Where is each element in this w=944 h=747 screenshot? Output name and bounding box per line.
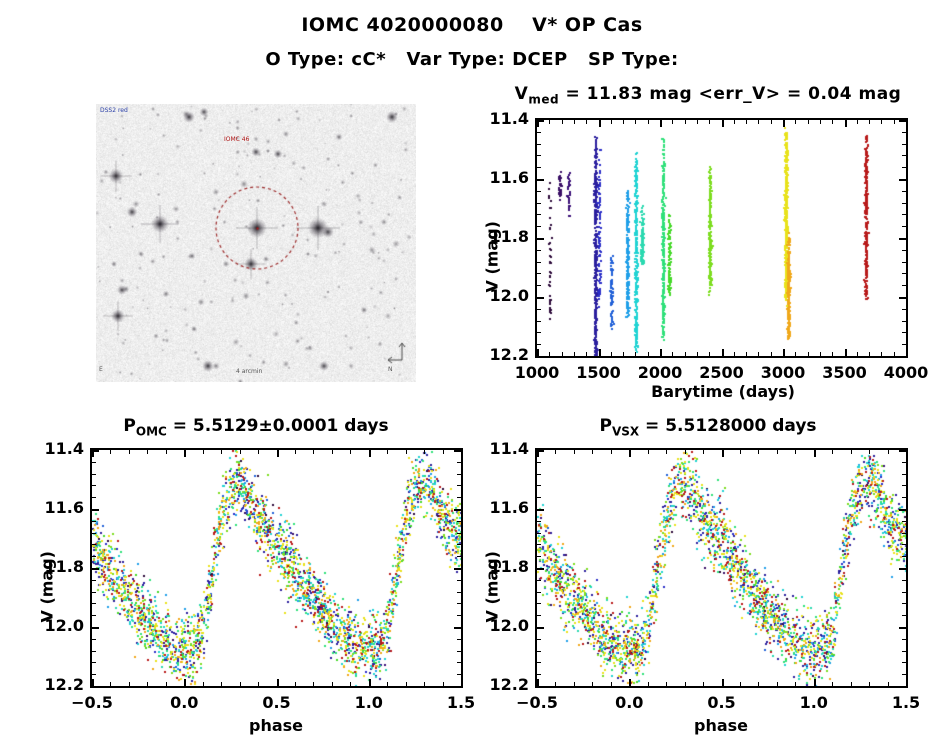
axis-minor-tick — [611, 120, 612, 124]
axis-tick — [537, 568, 544, 570]
axis-minor-tick — [758, 352, 759, 356]
x-tick-label: 0.5 — [232, 693, 322, 712]
y-tick-label: 11.6 — [473, 498, 529, 517]
axis-minor-tick — [902, 250, 906, 251]
axis-minor-tick — [902, 674, 906, 675]
phase-vsx-plot-area[interactable] — [535, 448, 908, 688]
axis-tick — [369, 450, 371, 457]
survey-label: DSS2 red — [100, 107, 128, 114]
axis-minor-tick — [685, 352, 686, 356]
axis-minor-tick — [771, 352, 772, 356]
axis-tick — [92, 450, 99, 452]
axis-tick — [899, 627, 906, 629]
axis-minor-tick — [258, 450, 259, 454]
axis-minor-tick — [537, 285, 541, 286]
axis-tick — [537, 349, 539, 356]
axis-minor-tick — [902, 273, 906, 274]
x-tick-label: 0.0 — [139, 693, 229, 712]
x-tick-label: 0.5 — [677, 693, 767, 712]
axis-minor-tick — [443, 450, 444, 454]
x-tick-label: 1.5 — [861, 693, 944, 712]
axis-minor-tick — [902, 556, 906, 557]
phase-omc-title: POMC = 5.5129±0.0001 days — [56, 416, 456, 438]
axis-minor-tick — [537, 167, 541, 168]
axis-minor-tick — [537, 580, 541, 581]
axis-minor-tick — [457, 651, 461, 652]
axis-tick — [454, 686, 461, 688]
axis-minor-tick — [350, 682, 351, 686]
object-marker-label: IOMC 46 — [224, 136, 249, 143]
axis-minor-tick — [457, 662, 461, 663]
axis-minor-tick — [537, 662, 541, 663]
axis-minor-tick — [555, 682, 556, 686]
axis-tick — [899, 238, 906, 240]
phase-vsx-title-value: = 5.5128000 days — [639, 416, 816, 436]
axis-minor-tick — [795, 120, 796, 124]
axis-minor-tick — [709, 352, 710, 356]
phase-omc-x-axis-label: phase — [186, 716, 366, 735]
axis-minor-tick — [537, 309, 541, 310]
axis-minor-tick — [537, 544, 541, 545]
axis-minor-tick — [92, 603, 96, 604]
axis-minor-tick — [443, 682, 444, 686]
axis-minor-tick — [537, 262, 541, 263]
axis-tick — [899, 509, 906, 511]
y-tick-label: 12.2 — [473, 675, 529, 694]
axis-minor-tick — [795, 352, 796, 356]
axis-minor-tick — [406, 682, 407, 686]
axis-tick — [783, 120, 785, 127]
axis-minor-tick — [623, 120, 624, 124]
axis-minor-tick — [129, 682, 130, 686]
axis-minor-tick — [537, 521, 541, 522]
axis-minor-tick — [902, 132, 906, 133]
axis-tick — [461, 679, 463, 686]
axis-minor-tick — [574, 450, 575, 454]
axis-minor-tick — [92, 544, 96, 545]
axis-tick — [277, 679, 279, 686]
axis-minor-tick — [777, 450, 778, 454]
east-label: E — [99, 366, 103, 373]
axis-minor-tick — [92, 639, 96, 640]
axis-minor-tick — [537, 556, 541, 557]
axis-tick — [906, 450, 908, 457]
axis-minor-tick — [110, 450, 111, 454]
axis-minor-tick — [537, 592, 541, 593]
axis-minor-tick — [555, 450, 556, 454]
axis-tick — [845, 349, 847, 356]
axis-minor-tick — [457, 521, 461, 522]
axis-minor-tick — [574, 682, 575, 686]
axis-minor-tick — [537, 603, 541, 604]
axis-tick — [369, 679, 371, 686]
axis-minor-tick — [586, 120, 587, 124]
axis-minor-tick — [387, 682, 388, 686]
axis-minor-tick — [537, 273, 541, 274]
axis-minor-tick — [697, 352, 698, 356]
axis-minor-tick — [888, 450, 889, 454]
axis-minor-tick — [457, 615, 461, 616]
y-tick-label: 11.8 — [28, 557, 84, 576]
y-tick-label: 11.8 — [473, 227, 529, 246]
axis-tick — [184, 679, 186, 686]
phase-omc-title-subscript: OMC — [136, 424, 167, 438]
axis-minor-tick — [902, 485, 906, 486]
axis-minor-tick — [221, 682, 222, 686]
axis-minor-tick — [902, 533, 906, 534]
axis-tick — [660, 349, 662, 356]
axis-minor-tick — [869, 450, 870, 454]
axis-minor-tick — [537, 214, 541, 215]
phase-vsx-title-subscript: VSX — [612, 424, 639, 438]
axis-minor-tick — [795, 682, 796, 686]
axis-minor-tick — [549, 352, 550, 356]
axis-tick — [537, 238, 544, 240]
axis-minor-tick — [92, 462, 96, 463]
axis-minor-tick — [574, 352, 575, 356]
axis-minor-tick — [902, 309, 906, 310]
axis-tick — [899, 179, 906, 181]
finding-chart[interactable]: DSS2 red IOMC 46 E N 4 arcmin — [96, 104, 416, 382]
axis-minor-tick — [666, 450, 667, 454]
axis-minor-tick — [740, 450, 741, 454]
axis-minor-tick — [902, 203, 906, 204]
axis-minor-tick — [685, 450, 686, 454]
axis-minor-tick — [894, 120, 895, 124]
x-tick-label: 0.0 — [584, 693, 674, 712]
axis-minor-tick — [611, 352, 612, 356]
axis-minor-tick — [387, 450, 388, 454]
axis-tick — [783, 349, 785, 356]
page-title: IOMC 4020000080 V* OP Cas — [0, 14, 944, 36]
axis-minor-tick — [332, 450, 333, 454]
axis-tick — [92, 679, 94, 686]
axis-tick — [454, 450, 461, 452]
axis-minor-tick — [537, 191, 541, 192]
axis-tick — [899, 297, 906, 299]
axis-tick — [814, 679, 816, 686]
axis-tick — [722, 349, 724, 356]
axis-minor-tick — [685, 682, 686, 686]
axis-minor-tick — [795, 450, 796, 454]
axis-minor-tick — [709, 120, 710, 124]
axis-tick — [599, 120, 601, 127]
axis-minor-tick — [832, 352, 833, 356]
vmed-prefix: V — [515, 84, 529, 104]
axis-minor-tick — [537, 344, 541, 345]
axis-tick — [454, 509, 461, 511]
vmed-subscript: med — [528, 92, 559, 106]
axis-minor-tick — [332, 682, 333, 686]
axis-minor-tick — [902, 155, 906, 156]
axis-tick — [722, 120, 724, 127]
axis-minor-tick — [313, 682, 314, 686]
axis-minor-tick — [92, 556, 96, 557]
x-tick-label: 1.0 — [769, 693, 859, 712]
axis-minor-tick — [457, 556, 461, 557]
axis-minor-tick — [902, 226, 906, 227]
axis-minor-tick — [888, 682, 889, 686]
lightcurve-x-axis-label: Barytime (days) — [608, 382, 838, 401]
y-tick-label: 11.6 — [473, 168, 529, 187]
object-type-line: O Type: cC* Var Type: DCEP SP Type: — [0, 49, 944, 70]
phase-vsx-title-prefix: P — [599, 416, 611, 436]
phase-vsx-title: PVSX = 5.5128000 days — [508, 416, 908, 438]
y-tick-label: 11.6 — [28, 498, 84, 517]
axis-minor-tick — [902, 262, 906, 263]
axis-minor-tick — [110, 682, 111, 686]
axis-minor-tick — [734, 120, 735, 124]
axis-tick — [537, 627, 544, 629]
axis-tick — [660, 120, 662, 127]
axis-minor-tick — [902, 321, 906, 322]
axis-minor-tick — [697, 120, 698, 124]
axis-minor-tick — [537, 639, 541, 640]
axis-minor-tick — [648, 682, 649, 686]
axis-minor-tick — [457, 485, 461, 486]
phase-omc-title-prefix: P — [123, 416, 135, 436]
phase-omc-points — [92, 450, 461, 686]
axis-minor-tick — [902, 580, 906, 581]
axis-minor-tick — [457, 592, 461, 593]
axis-minor-tick — [457, 639, 461, 640]
axis-minor-tick — [457, 603, 461, 604]
axis-minor-tick — [902, 544, 906, 545]
axis-minor-tick — [92, 533, 96, 534]
axis-minor-tick — [92, 521, 96, 522]
axis-tick — [906, 349, 908, 356]
axis-minor-tick — [808, 120, 809, 124]
axis-minor-tick — [758, 682, 759, 686]
vmed-value-text: = 11.83 mag <err_V> = 0.04 mag — [559, 84, 901, 104]
axis-minor-tick — [457, 580, 461, 581]
axis-minor-tick — [902, 332, 906, 333]
axis-minor-tick — [221, 450, 222, 454]
axis-minor-tick — [902, 521, 906, 522]
axis-minor-tick — [350, 450, 351, 454]
x-tick-label: 4000 — [861, 363, 944, 382]
axis-minor-tick — [902, 651, 906, 652]
axis-minor-tick — [537, 497, 541, 498]
axis-minor-tick — [574, 120, 575, 124]
axis-tick — [92, 568, 99, 570]
y-tick-label: 11.4 — [473, 109, 529, 128]
axis-minor-tick — [635, 120, 636, 124]
axis-minor-tick — [240, 450, 241, 454]
axis-minor-tick — [820, 352, 821, 356]
y-tick-label: 12.0 — [473, 616, 529, 635]
axis-minor-tick — [562, 120, 563, 124]
axis-minor-tick — [92, 674, 96, 675]
axis-minor-tick — [820, 120, 821, 124]
phase-omc-plot-area[interactable] — [90, 448, 463, 688]
axis-tick — [537, 120, 544, 122]
axis-minor-tick — [902, 144, 906, 145]
axis-minor-tick — [832, 682, 833, 686]
axis-tick — [537, 356, 544, 358]
axis-tick — [537, 450, 544, 452]
axis-tick — [454, 627, 461, 629]
y-tick-label: 12.0 — [28, 616, 84, 635]
axis-minor-tick — [666, 682, 667, 686]
axis-minor-tick — [537, 332, 541, 333]
axis-minor-tick — [648, 450, 649, 454]
axis-minor-tick — [902, 603, 906, 604]
axis-minor-tick — [851, 682, 852, 686]
axis-minor-tick — [537, 674, 541, 675]
axis-tick — [814, 450, 816, 457]
axis-tick — [906, 120, 908, 127]
axis-tick — [537, 179, 544, 181]
axis-tick — [461, 450, 463, 457]
axis-minor-tick — [537, 651, 541, 652]
axis-minor-tick — [592, 682, 593, 686]
axis-minor-tick — [611, 682, 612, 686]
axis-minor-tick — [129, 450, 130, 454]
axis-minor-tick — [902, 344, 906, 345]
axis-minor-tick — [457, 474, 461, 475]
axis-minor-tick — [537, 615, 541, 616]
axis-minor-tick — [648, 120, 649, 124]
axis-tick — [899, 450, 906, 452]
lightcurve-plot-area[interactable] — [535, 118, 908, 358]
axis-minor-tick — [549, 120, 550, 124]
axis-minor-tick — [623, 352, 624, 356]
axis-minor-tick — [902, 662, 906, 663]
axis-minor-tick — [295, 682, 296, 686]
axis-tick — [629, 679, 631, 686]
axis-tick — [899, 356, 906, 358]
axis-minor-tick — [203, 450, 204, 454]
axis-minor-tick — [902, 639, 906, 640]
axis-tick — [92, 627, 99, 629]
axis-minor-tick — [881, 120, 882, 124]
axis-minor-tick — [771, 120, 772, 124]
axis-minor-tick — [258, 682, 259, 686]
axis-minor-tick — [703, 450, 704, 454]
axis-tick — [537, 509, 544, 511]
axis-minor-tick — [746, 352, 747, 356]
axis-minor-tick — [902, 191, 906, 192]
axis-minor-tick — [592, 450, 593, 454]
axis-minor-tick — [869, 352, 870, 356]
axis-minor-tick — [685, 120, 686, 124]
phase-vsx-x-axis-label: phase — [631, 716, 811, 735]
axis-minor-tick — [406, 450, 407, 454]
lightcurve-points — [537, 120, 906, 356]
axis-minor-tick — [537, 485, 541, 486]
y-tick-label: 11.4 — [28, 439, 84, 458]
axis-minor-tick — [537, 155, 541, 156]
axis-minor-tick — [902, 615, 906, 616]
axis-minor-tick — [92, 485, 96, 486]
y-tick-label: 12.2 — [473, 345, 529, 364]
axis-minor-tick — [611, 450, 612, 454]
axis-tick — [537, 686, 544, 688]
vmed-line: Vmed = 11.83 mag <err_V> = 0.04 mag — [472, 84, 944, 106]
axis-tick — [899, 120, 906, 122]
axis-minor-tick — [857, 120, 858, 124]
axis-minor-tick — [537, 462, 541, 463]
y-tick-label: 11.8 — [473, 557, 529, 576]
scalebar-label: 4 arcmin — [236, 368, 262, 375]
axis-minor-tick — [203, 682, 204, 686]
axis-minor-tick — [92, 580, 96, 581]
axis-minor-tick — [92, 662, 96, 663]
axis-minor-tick — [457, 544, 461, 545]
axis-tick — [184, 450, 186, 457]
axis-minor-tick — [457, 674, 461, 675]
axis-minor-tick — [869, 120, 870, 124]
axis-minor-tick — [902, 474, 906, 475]
axis-tick — [277, 450, 279, 457]
scale-label: N — [388, 366, 393, 373]
axis-minor-tick — [758, 450, 759, 454]
axis-minor-tick — [734, 352, 735, 356]
axis-minor-tick — [424, 450, 425, 454]
axis-minor-tick — [537, 226, 541, 227]
y-tick-label: 12.2 — [28, 675, 84, 694]
axis-minor-tick — [92, 651, 96, 652]
axis-minor-tick — [166, 450, 167, 454]
axis-minor-tick — [672, 352, 673, 356]
axis-minor-tick — [424, 682, 425, 686]
axis-minor-tick — [894, 352, 895, 356]
x-tick-label: −0.5 — [47, 693, 137, 712]
axis-tick — [454, 568, 461, 570]
axis-tick — [599, 349, 601, 356]
axis-minor-tick — [740, 682, 741, 686]
axis-tick — [722, 450, 724, 457]
axis-minor-tick — [635, 352, 636, 356]
y-tick-label: 11.4 — [473, 439, 529, 458]
axis-minor-tick — [672, 120, 673, 124]
axis-minor-tick — [902, 214, 906, 215]
axis-minor-tick — [881, 352, 882, 356]
x-tick-label: −0.5 — [492, 693, 582, 712]
axis-minor-tick — [703, 682, 704, 686]
axis-minor-tick — [746, 120, 747, 124]
axis-tick — [629, 450, 631, 457]
axis-minor-tick — [295, 450, 296, 454]
axis-minor-tick — [832, 120, 833, 124]
axis-minor-tick — [902, 497, 906, 498]
axis-minor-tick — [92, 615, 96, 616]
phase-vsx-points — [537, 450, 906, 686]
axis-minor-tick — [857, 352, 858, 356]
axis-tick — [92, 509, 99, 511]
axis-minor-tick — [832, 450, 833, 454]
axis-minor-tick — [166, 682, 167, 686]
axis-minor-tick — [537, 144, 541, 145]
axis-minor-tick — [537, 321, 541, 322]
axis-minor-tick — [902, 167, 906, 168]
axis-minor-tick — [537, 533, 541, 534]
finding-chart-image — [96, 104, 416, 382]
axis-minor-tick — [457, 462, 461, 463]
axis-minor-tick — [147, 682, 148, 686]
phase-omc-title-value: = 5.5129±0.0001 days — [167, 416, 389, 436]
axis-minor-tick — [537, 474, 541, 475]
axis-tick — [537, 679, 539, 686]
axis-minor-tick — [902, 285, 906, 286]
axis-minor-tick — [902, 592, 906, 593]
axis-tick — [92, 686, 99, 688]
axis-minor-tick — [147, 450, 148, 454]
axis-tick — [537, 297, 544, 299]
axis-tick — [845, 120, 847, 127]
x-tick-label: 1.0 — [324, 693, 414, 712]
